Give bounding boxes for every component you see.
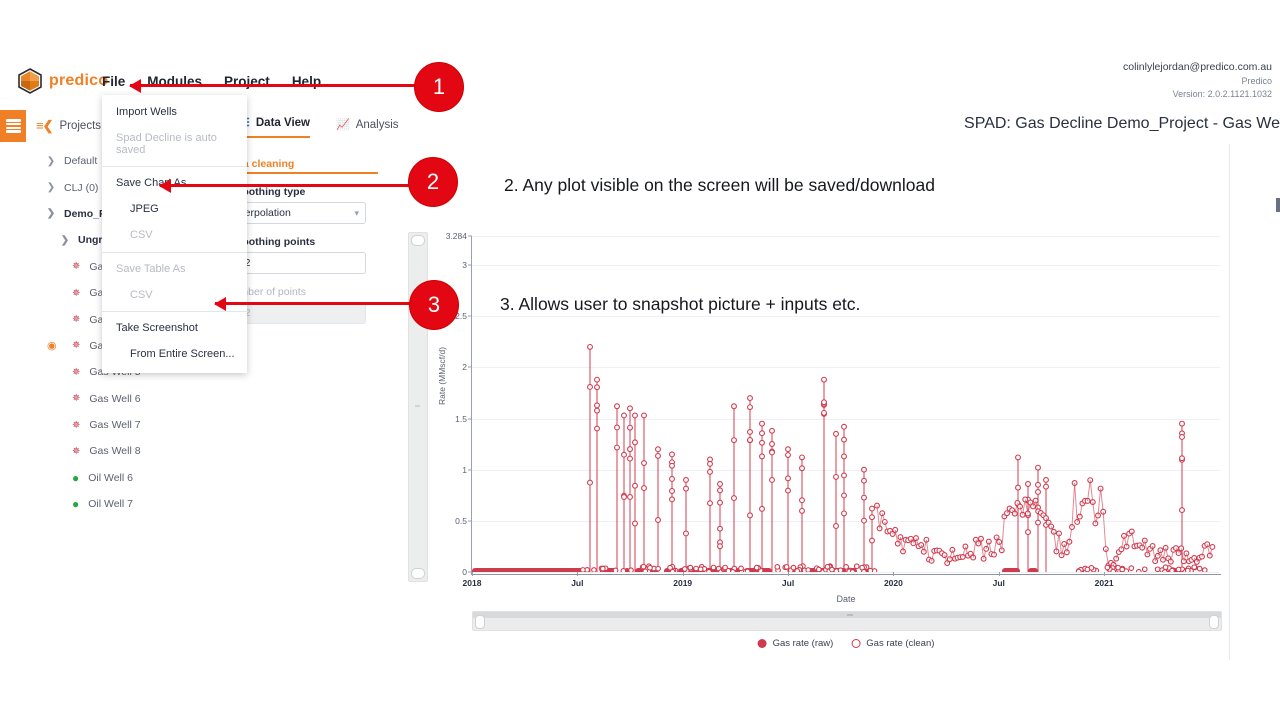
tree-item-oil-well-7[interactable]: ● Oil Well 7 — [0, 491, 213, 517]
clean-data-point — [633, 521, 638, 526]
page-title: SPAD: Gas Decline Demo_Project - Gas We — [964, 115, 1280, 133]
gas-well-icon: ✵ — [72, 314, 80, 325]
clean-data-point — [748, 430, 753, 435]
menu-item-save-chart-csv: CSV — [102, 222, 247, 248]
series-plot — [472, 236, 1220, 572]
menu-item-from-entire-screen[interactable]: From Entire Screen... — [102, 341, 247, 367]
series-connector — [1054, 532, 1057, 552]
menu-item-import-wells[interactable]: Import Wells — [102, 99, 247, 125]
clean-data-point — [732, 496, 737, 501]
menu-separator — [102, 166, 247, 167]
number-of-points-input: 242 — [226, 302, 366, 324]
clean-data-point — [1170, 568, 1175, 572]
clean-data-point — [834, 475, 839, 480]
clean-data-point — [622, 413, 627, 418]
tree-item-label: Ga — [80, 261, 103, 273]
app-version: Version: 2.0.2.1121.1032 — [1123, 88, 1272, 101]
clean-data-point — [984, 546, 989, 551]
clean-data-point — [770, 450, 775, 455]
clean-data-point — [1140, 545, 1145, 550]
clean-data-point — [775, 565, 780, 570]
x-tick-label: Jul — [782, 578, 794, 588]
clean-data-point — [711, 565, 716, 570]
series-connector — [1093, 502, 1096, 523]
legend-label: Gas rate (raw) — [773, 638, 834, 649]
clean-data-point — [760, 421, 765, 426]
account-org: Predico — [1123, 75, 1272, 88]
clean-data-point — [745, 569, 750, 572]
clean-data-point — [1076, 569, 1081, 572]
clean-data-point — [1026, 530, 1031, 535]
clean-data-point — [754, 565, 759, 570]
chevron-right-icon[interactable]: ❯ — [44, 182, 58, 193]
tree-item-oil-well-6[interactable]: ● Oil Well 6 — [0, 465, 213, 491]
clean-data-point — [642, 461, 647, 466]
clean-data-point — [648, 566, 653, 571]
x-tick-mark — [577, 572, 578, 576]
x-tick-label: Jul — [993, 578, 1005, 588]
clean-data-point — [748, 513, 753, 518]
predico-cube-icon — [18, 68, 42, 94]
series-connector — [1101, 489, 1104, 512]
clean-data-point — [718, 482, 723, 487]
x-tick-label: 2019 — [673, 578, 692, 588]
clean-data-point — [1044, 478, 1049, 483]
annotation-callout-3: 3 — [409, 280, 459, 330]
menu-help[interactable]: Help — [290, 72, 323, 91]
plot-area[interactable]: 00.511.522.533.284 2018Jul2019Jul2020Jul… — [472, 236, 1220, 572]
clean-data-point — [870, 506, 875, 511]
clean-data-point — [1155, 567, 1160, 572]
clean-data-point — [862, 467, 867, 472]
clean-data-point — [656, 453, 661, 458]
clean-data-point — [862, 495, 867, 500]
raw-zero-segment — [1002, 568, 1020, 572]
clean-data-point — [748, 396, 753, 401]
clean-data-point — [1062, 542, 1067, 547]
clean-data-point — [628, 495, 633, 500]
menu-separator — [102, 252, 247, 253]
menu-item-take-screenshot[interactable]: Take Screenshot — [102, 315, 247, 341]
clean-data-point — [628, 456, 633, 461]
x-tick-label: Jul — [571, 578, 583, 588]
clean-data-point — [588, 345, 593, 350]
x-tick-mark — [999, 572, 1000, 576]
menu-file[interactable]: File — [100, 72, 127, 91]
clean-data-point — [862, 569, 867, 572]
clean-data-point — [1016, 455, 1021, 460]
clean-data-point — [1180, 456, 1185, 461]
clean-data-point — [670, 497, 675, 502]
clean-data-point — [1016, 485, 1021, 490]
x-tick-label: 2021 — [1095, 578, 1114, 588]
tab-analysis-label: Analysis — [356, 119, 399, 131]
clean-data-point — [718, 500, 723, 505]
clean-data-point — [1153, 559, 1158, 564]
clean-data-point — [800, 498, 805, 503]
chevron-down-icon[interactable]: ❯ — [44, 208, 58, 219]
clean-data-point — [770, 428, 775, 433]
annotation-note-2: 2. Any plot visible on the screen will b… — [504, 175, 935, 196]
annotation-note-3: 3. Allows user to snapshot picture + inp… — [500, 294, 860, 315]
x-tick-mark — [472, 572, 473, 576]
menu-project[interactable]: Project — [222, 72, 272, 91]
clean-data-point — [854, 564, 859, 569]
menu-item-autosave-notice: Spad Decline is auto saved — [102, 125, 247, 163]
clean-data-point — [684, 531, 689, 536]
gas-well-icon: ✵ — [72, 261, 80, 272]
chevron-down-icon[interactable]: ❯ — [58, 235, 72, 246]
clean-data-point — [1192, 565, 1197, 570]
annotation-arrow-3 — [215, 302, 420, 305]
clean-data-point — [800, 455, 805, 460]
clean-data-point — [842, 437, 847, 442]
clean-data-point — [994, 535, 999, 540]
tree-item-gas-well-7[interactable]: ✵ Gas Well 7 — [0, 412, 213, 438]
legend-label: Gas rate (clean) — [866, 638, 934, 649]
clean-data-point — [1180, 508, 1185, 513]
clean-data-point — [748, 405, 753, 410]
clean-data-point — [760, 506, 765, 511]
clean-data-point — [1075, 520, 1080, 525]
clean-data-point — [1036, 520, 1041, 525]
x-tick-mark — [1104, 572, 1105, 576]
x-tick-mark — [683, 572, 684, 576]
clean-data-point — [682, 567, 687, 572]
series-connector — [1098, 489, 1101, 516]
account-info: colinlylejordan@predico.com.au Predico V… — [1123, 60, 1272, 101]
clean-data-point — [1036, 490, 1041, 495]
clean-data-point — [760, 440, 765, 445]
clean-data-point — [731, 570, 736, 572]
clean-data-point — [1155, 553, 1160, 558]
clean-data-point — [822, 411, 827, 416]
clean-data-point — [588, 480, 593, 485]
clean-data-point — [1036, 482, 1041, 487]
clean-data-point — [718, 488, 723, 493]
clean-data-point — [844, 565, 849, 570]
clean-data-point — [723, 565, 728, 570]
clean-data-point — [739, 566, 744, 571]
tree-item-gas-well-6[interactable]: ✵ Gas Well 6 — [0, 386, 213, 412]
selected-well-radio-icon[interactable]: ◉ — [47, 339, 57, 352]
clean-data-point — [1197, 566, 1202, 571]
oil-well-icon: ● — [72, 472, 79, 484]
y-range-handle-bottom[interactable] — [411, 568, 425, 579]
x-tick-label: 2020 — [884, 578, 903, 588]
clean-data-point — [1049, 524, 1054, 529]
x-range-handle-right[interactable] — [1209, 615, 1219, 629]
clean-data-point — [870, 538, 875, 543]
right-panel-resize-handle[interactable] — [1276, 198, 1280, 212]
clean-data-point — [834, 524, 839, 529]
x-range-grip — [847, 614, 853, 616]
gas-well-icon: ✵ — [72, 420, 80, 431]
clean-data-point — [633, 483, 638, 488]
tree-item-label: CLJ (0) — [58, 182, 98, 194]
clean-data-point — [642, 486, 647, 491]
clean-data-point — [842, 424, 847, 429]
open-circle-icon — [851, 639, 860, 648]
chevron-right-icon[interactable]: ❯ — [44, 156, 58, 167]
clean-data-point — [822, 400, 827, 405]
gas-well-icon: ✵ — [72, 367, 80, 378]
clean-data-point — [842, 493, 847, 498]
clean-data-point — [942, 553, 947, 558]
clean-data-point — [718, 544, 723, 549]
clean-data-point — [748, 438, 753, 443]
hamburger-menu-icon[interactable] — [0, 110, 26, 142]
clean-data-point — [1180, 435, 1185, 440]
x-tick-label: 2018 — [463, 578, 482, 588]
series-connector — [877, 506, 880, 529]
clean-data-point — [670, 463, 675, 468]
clean-data-point — [868, 568, 873, 572]
clean-data-point — [834, 431, 839, 436]
clean-data-point — [656, 447, 661, 452]
clean-data-point — [708, 501, 713, 506]
x-axis-line — [471, 574, 1221, 575]
clean-data-point — [786, 488, 791, 493]
clean-data-point — [760, 454, 765, 459]
clean-data-point — [592, 568, 597, 572]
chart-legend: Gas rate (raw) Gas rate (clean) — [758, 638, 935, 649]
clean-data-point — [628, 406, 633, 411]
clean-data-point — [842, 473, 847, 478]
series-connector — [926, 540, 929, 560]
clean-data-point — [817, 567, 822, 572]
clean-data-point — [595, 377, 600, 382]
clean-data-point — [997, 540, 1002, 545]
chevron-down-icon: ▾ — [354, 208, 359, 219]
clean-data-point — [698, 567, 703, 572]
clean-data-point — [595, 403, 600, 408]
gridline — [472, 572, 1220, 573]
clean-data-point — [870, 515, 875, 520]
annotation-callout-2: 2 — [408, 157, 458, 207]
clean-data-point — [628, 447, 633, 452]
menu-item-save-chart-jpeg[interactable]: JPEG — [102, 196, 247, 222]
tree-item-label: Default — [58, 155, 97, 167]
filled-circle-icon — [758, 639, 767, 648]
gas-well-icon: ✵ — [72, 393, 80, 404]
annotation-arrow-2 — [160, 184, 420, 187]
gas-well-icon: ✵ — [72, 288, 80, 299]
menu-separator — [102, 311, 247, 312]
clean-data-point — [1111, 569, 1116, 572]
clean-data-point — [633, 413, 638, 418]
clean-data-point — [621, 569, 626, 572]
clean-data-point — [581, 568, 586, 572]
clean-data-point — [1181, 559, 1186, 564]
clean-data-point — [770, 442, 775, 447]
menu-modules[interactable]: Modules — [145, 72, 204, 91]
clean-data-point — [786, 476, 791, 481]
clean-data-point — [615, 425, 620, 430]
x-axis-range-slider[interactable] — [472, 611, 1222, 631]
gas-well-icon: ✵ — [72, 340, 80, 351]
tree-item-label: Gas Well 6 — [80, 393, 140, 405]
tree-item-gas-well-8[interactable]: ✵ Gas Well 8 — [0, 438, 213, 464]
clean-data-point — [800, 466, 805, 471]
clean-data-point — [622, 495, 627, 500]
clean-data-point — [707, 570, 712, 572]
clean-data-point — [1163, 565, 1168, 570]
clean-data-point — [613, 568, 618, 572]
tree-item-label: Demo_P — [58, 208, 106, 220]
clean-data-point — [684, 486, 689, 491]
x-range-handle-left[interactable] — [475, 615, 485, 629]
clean-data-point — [633, 440, 638, 445]
clean-data-point — [1176, 567, 1181, 572]
raw-zero-segment — [472, 568, 590, 572]
clean-data-point — [732, 438, 737, 443]
series-connector — [1002, 516, 1005, 550]
series-connector — [981, 539, 984, 559]
clean-data-point — [595, 408, 600, 413]
panel-divider — [1229, 144, 1230, 660]
clean-data-point — [588, 385, 593, 390]
clean-data-point — [668, 565, 673, 570]
clean-data-point — [670, 489, 675, 494]
series-connector — [1103, 512, 1106, 549]
clean-data-point — [1202, 568, 1207, 572]
clean-data-point — [1180, 421, 1185, 426]
series-connector — [1075, 483, 1078, 522]
clean-data-point — [862, 518, 867, 523]
clean-data-point — [770, 478, 775, 483]
clean-data-point — [688, 565, 693, 570]
series-connector — [1090, 480, 1093, 502]
legend-item-gas-rate-raw[interactable]: Gas rate (raw) — [758, 638, 834, 649]
series-connector — [1088, 480, 1091, 501]
clean-data-point — [1129, 566, 1134, 571]
clean-data-point — [595, 385, 600, 390]
gas-well-icon: ✵ — [72, 446, 80, 457]
clean-data-point — [1185, 568, 1190, 572]
clean-data-point — [601, 566, 606, 571]
clean-data-point — [1114, 556, 1119, 561]
legend-item-gas-rate-clean[interactable]: Gas rate (clean) — [851, 638, 934, 649]
smoothing-points-input[interactable]: 242 — [226, 252, 366, 274]
tree-item-label: Gas Well 7 — [80, 419, 140, 431]
oil-well-icon: ● — [72, 498, 79, 510]
clean-data-point — [850, 570, 855, 572]
tree-item-label: Oil Well 7 — [79, 498, 133, 510]
clean-data-point — [825, 565, 830, 570]
tab-data-view[interactable]: ☷ Data View — [240, 116, 310, 138]
clean-data-point — [795, 569, 800, 572]
y-range-handle-top[interactable] — [411, 235, 425, 246]
clean-data-point — [784, 565, 789, 570]
clean-data-point — [1026, 482, 1031, 487]
file-dropdown-menu[interactable]: Import Wells Spad Decline is auto saved … — [102, 95, 247, 373]
tree-item-label: Ga — [80, 287, 103, 299]
clean-data-point — [656, 518, 661, 523]
clean-data-point — [1136, 569, 1141, 572]
clean-data-point — [628, 425, 633, 430]
collapse-panel-icon: ≡❮ — [36, 118, 52, 134]
x-axis-label: Date — [836, 594, 855, 604]
clean-data-point — [1105, 565, 1110, 570]
clean-data-point — [830, 567, 835, 572]
clean-data-point — [862, 478, 867, 483]
clean-data-point — [806, 568, 811, 572]
hamburger-lines — [6, 119, 21, 133]
account-email: colinlylejordan@predico.com.au — [1123, 60, 1272, 75]
app-logo[interactable]: predico — [18, 68, 108, 94]
clean-data-point — [1163, 570, 1168, 572]
tab-analysis[interactable]: 📈 Analysis — [336, 118, 399, 138]
clean-data-point — [838, 568, 843, 572]
clean-data-point — [622, 452, 627, 457]
tab-data-view-label: Data View — [256, 117, 310, 129]
annotation-arrow-1 — [130, 84, 420, 87]
raw-zero-segment — [1028, 568, 1038, 572]
clean-data-point — [708, 469, 713, 474]
projects-label: Projects — [59, 120, 101, 132]
y-axis-label: Rate (MMscf/d) — [437, 347, 447, 405]
clean-data-point — [595, 426, 600, 431]
view-tabs: ☷ Data View 📈 Analysis — [240, 116, 399, 138]
clean-data-point — [786, 453, 791, 458]
clean-data-point — [708, 461, 713, 466]
clean-data-point — [718, 526, 723, 531]
annotation-callout-1: 1 — [414, 62, 464, 112]
x-tick-mark — [788, 572, 789, 576]
analysis-chart-icon: 📈 — [336, 118, 350, 131]
clean-data-point — [694, 566, 699, 571]
clean-data-point — [1210, 545, 1215, 550]
tree-item-label: Gas Well 8 — [80, 445, 140, 457]
clean-data-point — [641, 564, 646, 569]
clean-data-point — [1036, 465, 1041, 470]
clean-data-point — [760, 431, 765, 436]
clean-data-point — [1120, 567, 1125, 572]
clean-data-point — [615, 404, 620, 409]
clean-data-point — [842, 511, 847, 516]
menu-item-save-table-as: Save Table As — [102, 256, 247, 282]
clean-data-point — [615, 445, 620, 450]
clean-data-point — [656, 566, 661, 571]
y-range-grip — [415, 405, 420, 407]
tree-item-label: Oil Well 6 — [79, 472, 133, 484]
clean-data-point — [822, 377, 827, 382]
clean-data-point — [786, 447, 791, 452]
clean-data-point — [800, 508, 805, 513]
clean-data-point — [642, 413, 647, 418]
clean-data-point — [1044, 484, 1049, 489]
projects-toggle[interactable]: ≡❮ Projects — [36, 118, 101, 134]
series-connector — [1072, 483, 1075, 527]
clean-data-point — [1085, 567, 1090, 572]
clean-data-point — [629, 568, 634, 572]
smoothing-type-select[interactable]: Interpolation ▾ — [226, 202, 366, 224]
clean-data-point — [684, 478, 689, 483]
clean-data-point — [732, 404, 737, 409]
clean-data-point — [670, 452, 675, 457]
series-connector — [1059, 533, 1062, 555]
clean-data-point — [1142, 567, 1147, 572]
clean-data-point — [842, 454, 847, 459]
clean-data-point — [670, 477, 675, 482]
x-tick-mark — [893, 572, 894, 576]
